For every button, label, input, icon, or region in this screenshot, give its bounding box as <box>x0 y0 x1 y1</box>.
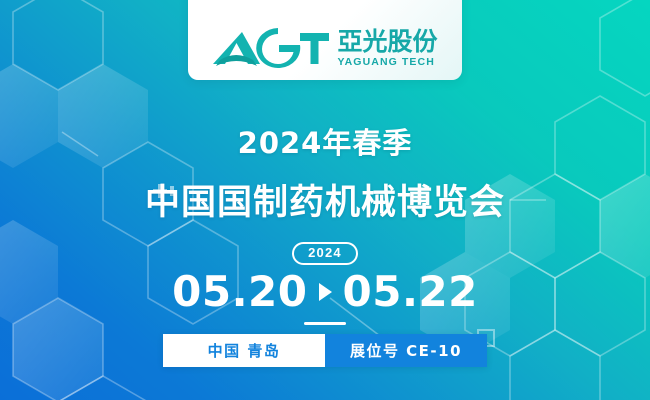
logo-company-name-cn: 亞光股份 <box>337 29 437 54</box>
date-range: 05.20 05.22 <box>172 271 478 313</box>
year-badge: 2024 <box>292 242 358 265</box>
exhibition-promo-banner: 亞光股份 YAGUANG TECH 2024年春季 中国国制药机械博览会 202… <box>0 0 650 400</box>
banner-headline: 2024年春季 中国国制药机械博览会 <box>0 120 650 225</box>
date-end: 05.22 <box>343 271 478 313</box>
event-date-block: 2024 05.20 05.22 <box>0 242 650 325</box>
headline-line-2: 中国国制药机械博览会 <box>0 174 650 225</box>
event-info-bar: 中国 青岛 展位号 CE-10 <box>163 334 487 367</box>
event-booth-number: 展位号 CE-10 <box>325 334 487 367</box>
headline-line-1: 2024年春季 <box>0 120 650 162</box>
date-underline-divider <box>304 322 346 325</box>
company-logo-card: 亞光股份 YAGUANG TECH <box>188 0 462 80</box>
date-start: 05.20 <box>172 271 307 313</box>
event-location: 中国 青岛 <box>163 334 325 367</box>
logo-company-name-en: YAGUANG TECH <box>337 57 434 68</box>
agt-logomark-icon <box>212 28 330 68</box>
play-triangle-right-icon <box>319 283 332 301</box>
